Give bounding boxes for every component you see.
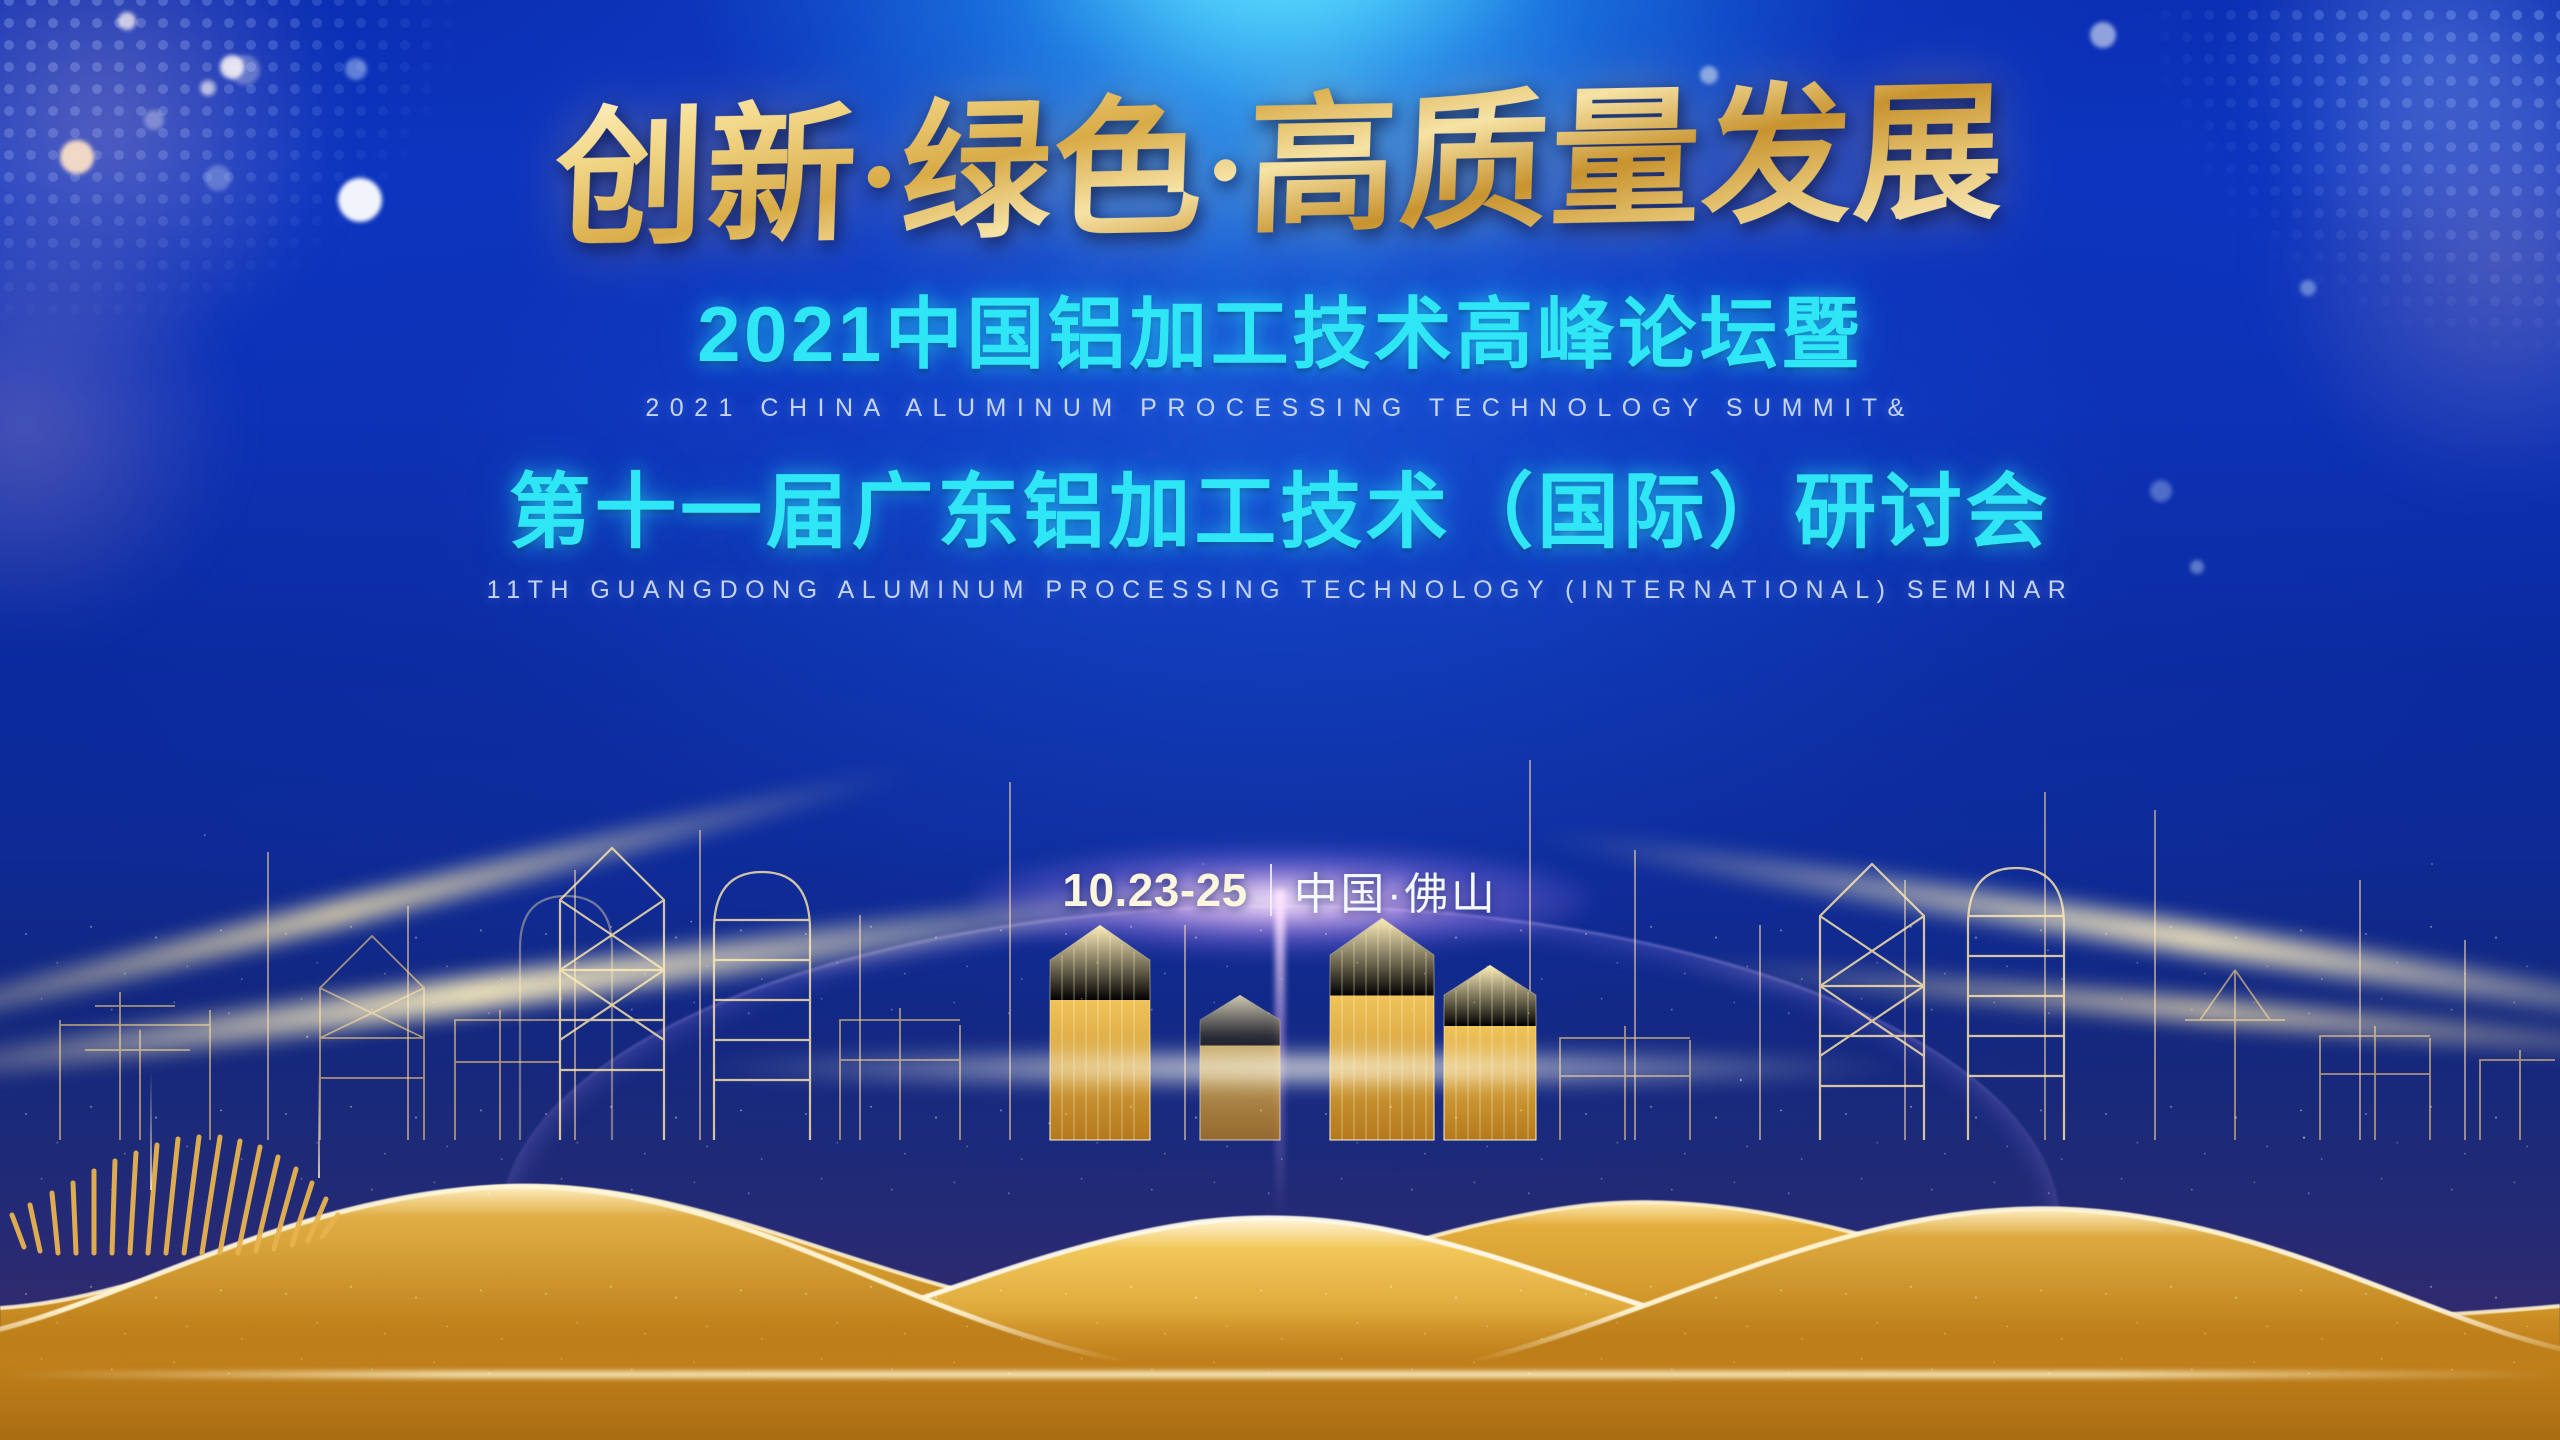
slogan-separator-1: · xyxy=(856,106,904,248)
conference-title-en-secondary: 11TH GUANGDONG ALUMINUM PROCESSING TECHN… xyxy=(0,576,2560,605)
divider-line xyxy=(1270,864,1272,916)
horizon-light-beam xyxy=(1275,890,1285,1220)
conference-poster: 创新·绿色·高质量发展 2021中国铝加工技术高峰论坛暨 2021 CHINA … xyxy=(0,0,2560,1440)
conference-title-en-primary: 2021 CHINA ALUMINUM PROCESSING TECHNOLOG… xyxy=(0,394,2560,423)
golden-fan-structure xyxy=(10,1065,350,1255)
mast-left-1 xyxy=(150,1070,152,1190)
conference-title-cn-primary: 2021中国铝加工技术高峰论坛暨 xyxy=(0,272,2560,384)
slogan-part-3: 高质量发展 xyxy=(1245,64,2008,255)
poster-content: 创新·绿色·高质量发展 2021中国铝加工技术高峰论坛暨 2021 CHINA … xyxy=(0,0,2560,605)
slogan-separator-2: · xyxy=(1202,99,1250,241)
slogan-calligraphy: 创新·绿色·高质量发展 xyxy=(542,74,2017,260)
mast-left-2 xyxy=(318,1068,320,1178)
event-date: 10.23-25 xyxy=(1062,863,1247,917)
slogan-part-1: 创新 xyxy=(552,86,861,268)
conference-title-cn-secondary: 第十一届广东铝加工技术（国际）研讨会 xyxy=(0,445,2560,564)
slogan-part-2: 绿色 xyxy=(898,79,1207,261)
date-location-row: 10.23-25 中国·佛山 xyxy=(0,858,2560,922)
event-location: 中国·佛山 xyxy=(1294,858,1498,922)
